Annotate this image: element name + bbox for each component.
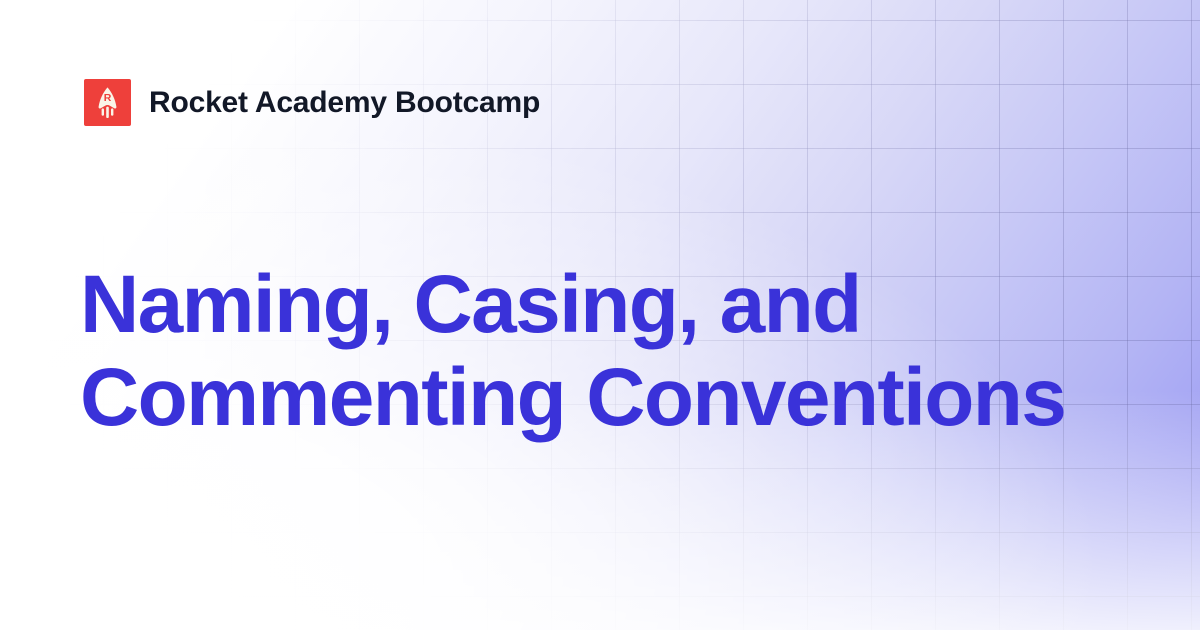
- rocket-icon: R: [84, 79, 131, 126]
- brand-name: Rocket Academy Bootcamp: [149, 88, 540, 118]
- og-card: R Rocket Academy Bootcamp Naming, Casing…: [0, 0, 1200, 630]
- brand-lockup: R Rocket Academy Bootcamp: [84, 79, 540, 126]
- page-title: Naming, Casing, and Commenting Conventio…: [80, 258, 1090, 444]
- card-content: R Rocket Academy Bootcamp Naming, Casing…: [0, 0, 1200, 630]
- svg-text:R: R: [104, 92, 112, 104]
